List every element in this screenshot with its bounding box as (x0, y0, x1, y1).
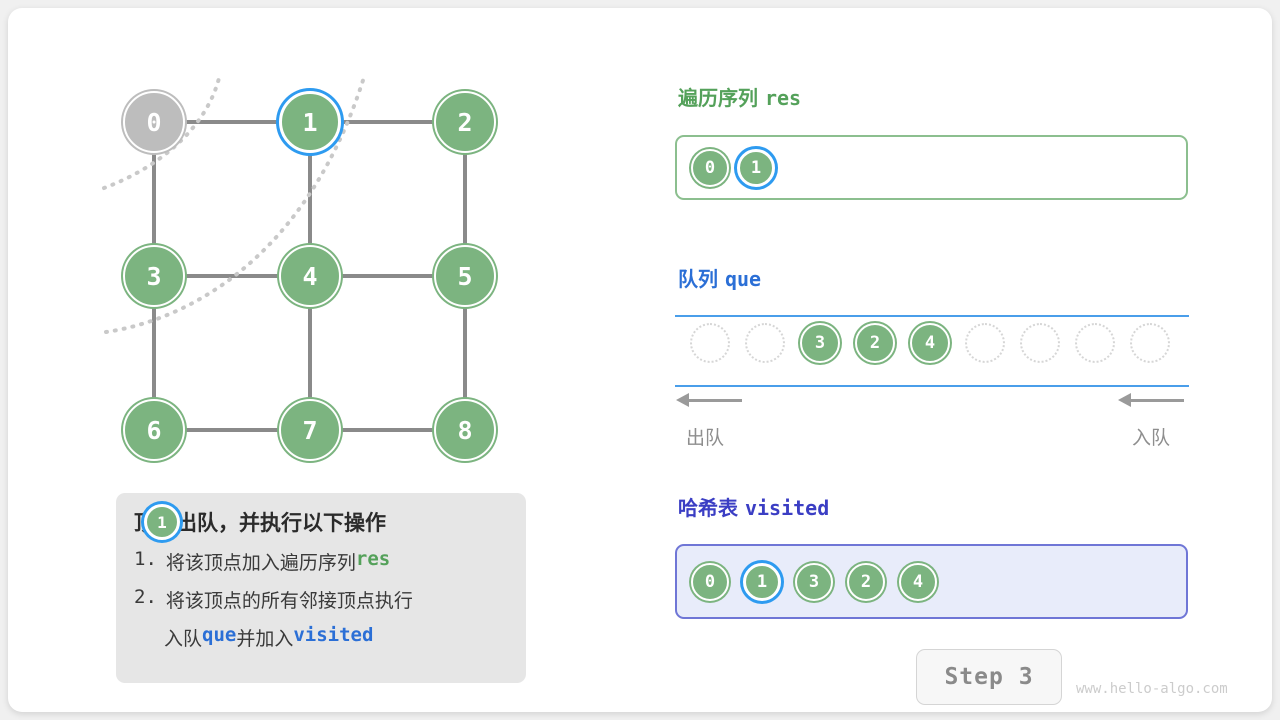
watermark: www.hello-algo.com (1076, 681, 1228, 697)
graph-node-6[interactable]: 6 (123, 399, 185, 461)
graph-node-2[interactable]: 2 (434, 91, 496, 153)
caption-node-badge: 1 (144, 504, 180, 540)
queue-slot-list: 324 (690, 323, 1170, 363)
visited-title-cn: 哈希表 (678, 496, 738, 520)
res-title-code: res (765, 86, 801, 110)
caption-line-3: 入队 que 并加入 visited (164, 624, 508, 651)
graph-diagram: 012345678 (8, 8, 648, 488)
caption-head-suffix: 出队，并执行以下操作 (176, 507, 386, 537)
caption-code-que: que (202, 624, 236, 651)
caption-box: 顶点 1 出队，并执行以下操作 1.将该顶点加入遍历序列 res 2.将该顶点的… (116, 493, 526, 683)
dequeue-label: 出队 (686, 423, 724, 450)
caption-line-text-2: 并加入 (236, 624, 293, 651)
graph-node-1[interactable]: 1 (279, 91, 341, 153)
graph-node-7[interactable]: 7 (279, 399, 341, 461)
que-title-cn: 队列 (678, 267, 718, 291)
visited-item-1: 1 (743, 563, 781, 601)
visited-item-2: 2 (847, 563, 885, 601)
caption-line-2: 2.将该顶点的所有邻接顶点执行 (134, 586, 508, 613)
queue-slot-2: 2 (855, 323, 895, 363)
step-badge: Step 3 (916, 649, 1062, 705)
visited-item-0: 0 (691, 563, 729, 601)
caption-headline: 顶点 1 出队，并执行以下操作 (134, 507, 508, 537)
caption-line-number: 2. (134, 586, 157, 613)
queue-slot-3: 3 (800, 323, 840, 363)
visited-item-3: 3 (795, 563, 833, 601)
caption-code-visited: visited (293, 624, 373, 651)
queue-slot-empty-1 (745, 323, 785, 363)
graph-node-4[interactable]: 4 (279, 245, 341, 307)
graph-node-3[interactable]: 3 (123, 245, 185, 307)
res-item-0: 0 (691, 149, 729, 187)
que-panel-title: 队列 que (678, 263, 761, 292)
que-title-code: que (725, 267, 761, 291)
caption-line-number: 1. (134, 548, 157, 575)
caption-line-text: 入队 (164, 624, 202, 651)
queue-slot-empty-7 (1075, 323, 1115, 363)
visited-title-code: visited (745, 496, 829, 520)
graph-node-0[interactable]: 0 (123, 91, 185, 153)
queue-slot-empty-8 (1130, 323, 1170, 363)
visited-container: 01324 (675, 544, 1188, 619)
queue-slot-empty-6 (1020, 323, 1060, 363)
queue-rail-bottom (675, 385, 1189, 387)
res-title-cn: 遍历序列 (678, 86, 758, 110)
visited-item-4: 4 (899, 563, 937, 601)
queue-slot-empty-5 (965, 323, 1005, 363)
graph-node-8[interactable]: 8 (434, 399, 496, 461)
enqueue-label: 入队 (1132, 423, 1170, 450)
queue-rail-top (675, 315, 1189, 317)
res-item-list: 01 (691, 149, 775, 187)
caption-line-1: 1.将该顶点加入遍历序列 res (134, 548, 508, 575)
res-container: 01 (675, 135, 1188, 200)
queue-slot-empty-0 (690, 323, 730, 363)
queue-slot-4: 4 (910, 323, 950, 363)
figure-canvas: 012345678 遍历序列 res 01 队列 que 324 出队 入队 哈… (8, 8, 1272, 712)
caption-line-text: 将该顶点加入遍历序列 (166, 548, 356, 575)
caption-code-res: res (356, 548, 390, 575)
caption-line-text: 将该顶点的所有邻接顶点执行 (166, 586, 413, 613)
res-item-1: 1 (737, 149, 775, 187)
visited-item-list: 01324 (691, 563, 937, 601)
visited-panel-title: 哈希表 visited (678, 492, 829, 521)
res-panel-title: 遍历序列 res (678, 82, 801, 111)
caption-step-list: 1.将该顶点加入遍历序列 res 2.将该顶点的所有邻接顶点执行入队 que 并… (134, 548, 508, 651)
graph-node-5[interactable]: 5 (434, 245, 496, 307)
